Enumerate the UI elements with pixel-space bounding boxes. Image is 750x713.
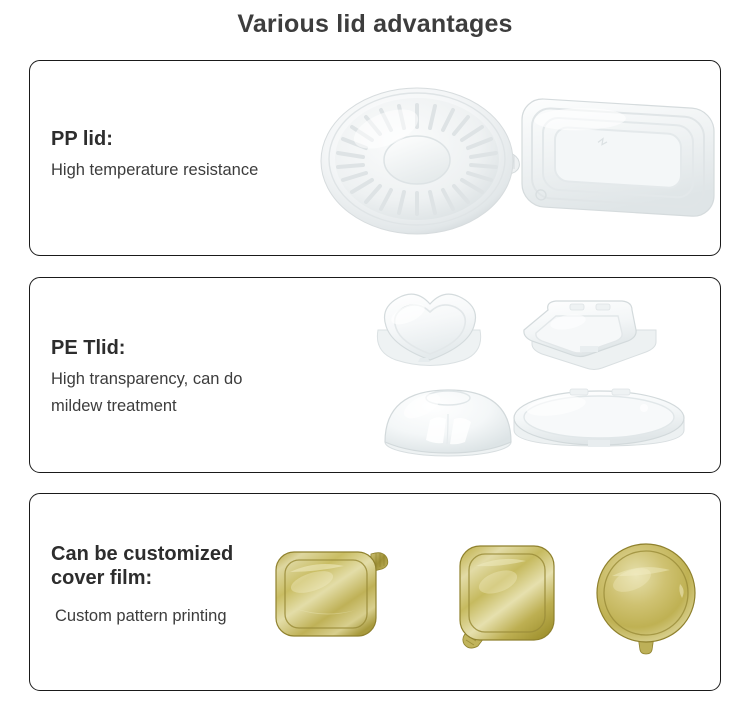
dome-pet-lid-image [378,378,518,463]
card-pp-text-block: PP lid: High temperature resistance [51,127,258,184]
card-pet-description: High transparency, can do mildew treatme… [51,366,242,419]
rectangular-pp-lid-image [510,85,721,235]
card-pet-heading: PE Tlid: [51,336,242,360]
oval-pet-lid-image [504,382,694,462]
page-title: Various lid advantages [0,10,750,39]
heart-pet-lid-image [360,286,500,381]
card-pp-description: High temperature resistance [51,157,258,184]
round-gold-foil-lid-image [588,538,708,658]
card-foil-description: Custom pattern printing [51,603,233,630]
rectangular-gold-foil-lid-image [270,542,400,652]
card-pp-lid: PP lid: High temperature resistance [29,60,721,256]
square-pet-lid-image [518,290,668,380]
card-pet-lid: PE Tlid: High transparency, can do milde… [29,277,721,473]
card-foil-text-block: Can be customized cover film: Custom pat… [51,542,233,630]
card-pet-text-block: PE Tlid: High transparency, can do milde… [51,336,242,420]
card-cover-film: Can be customized cover film: Custom pat… [29,493,721,691]
square-gold-foil-lid-image [450,538,570,658]
round-pp-lid-image [310,81,540,241]
card-foil-heading: Can be customized cover film: [51,542,233,591]
card-pp-heading: PP lid: [51,127,258,151]
